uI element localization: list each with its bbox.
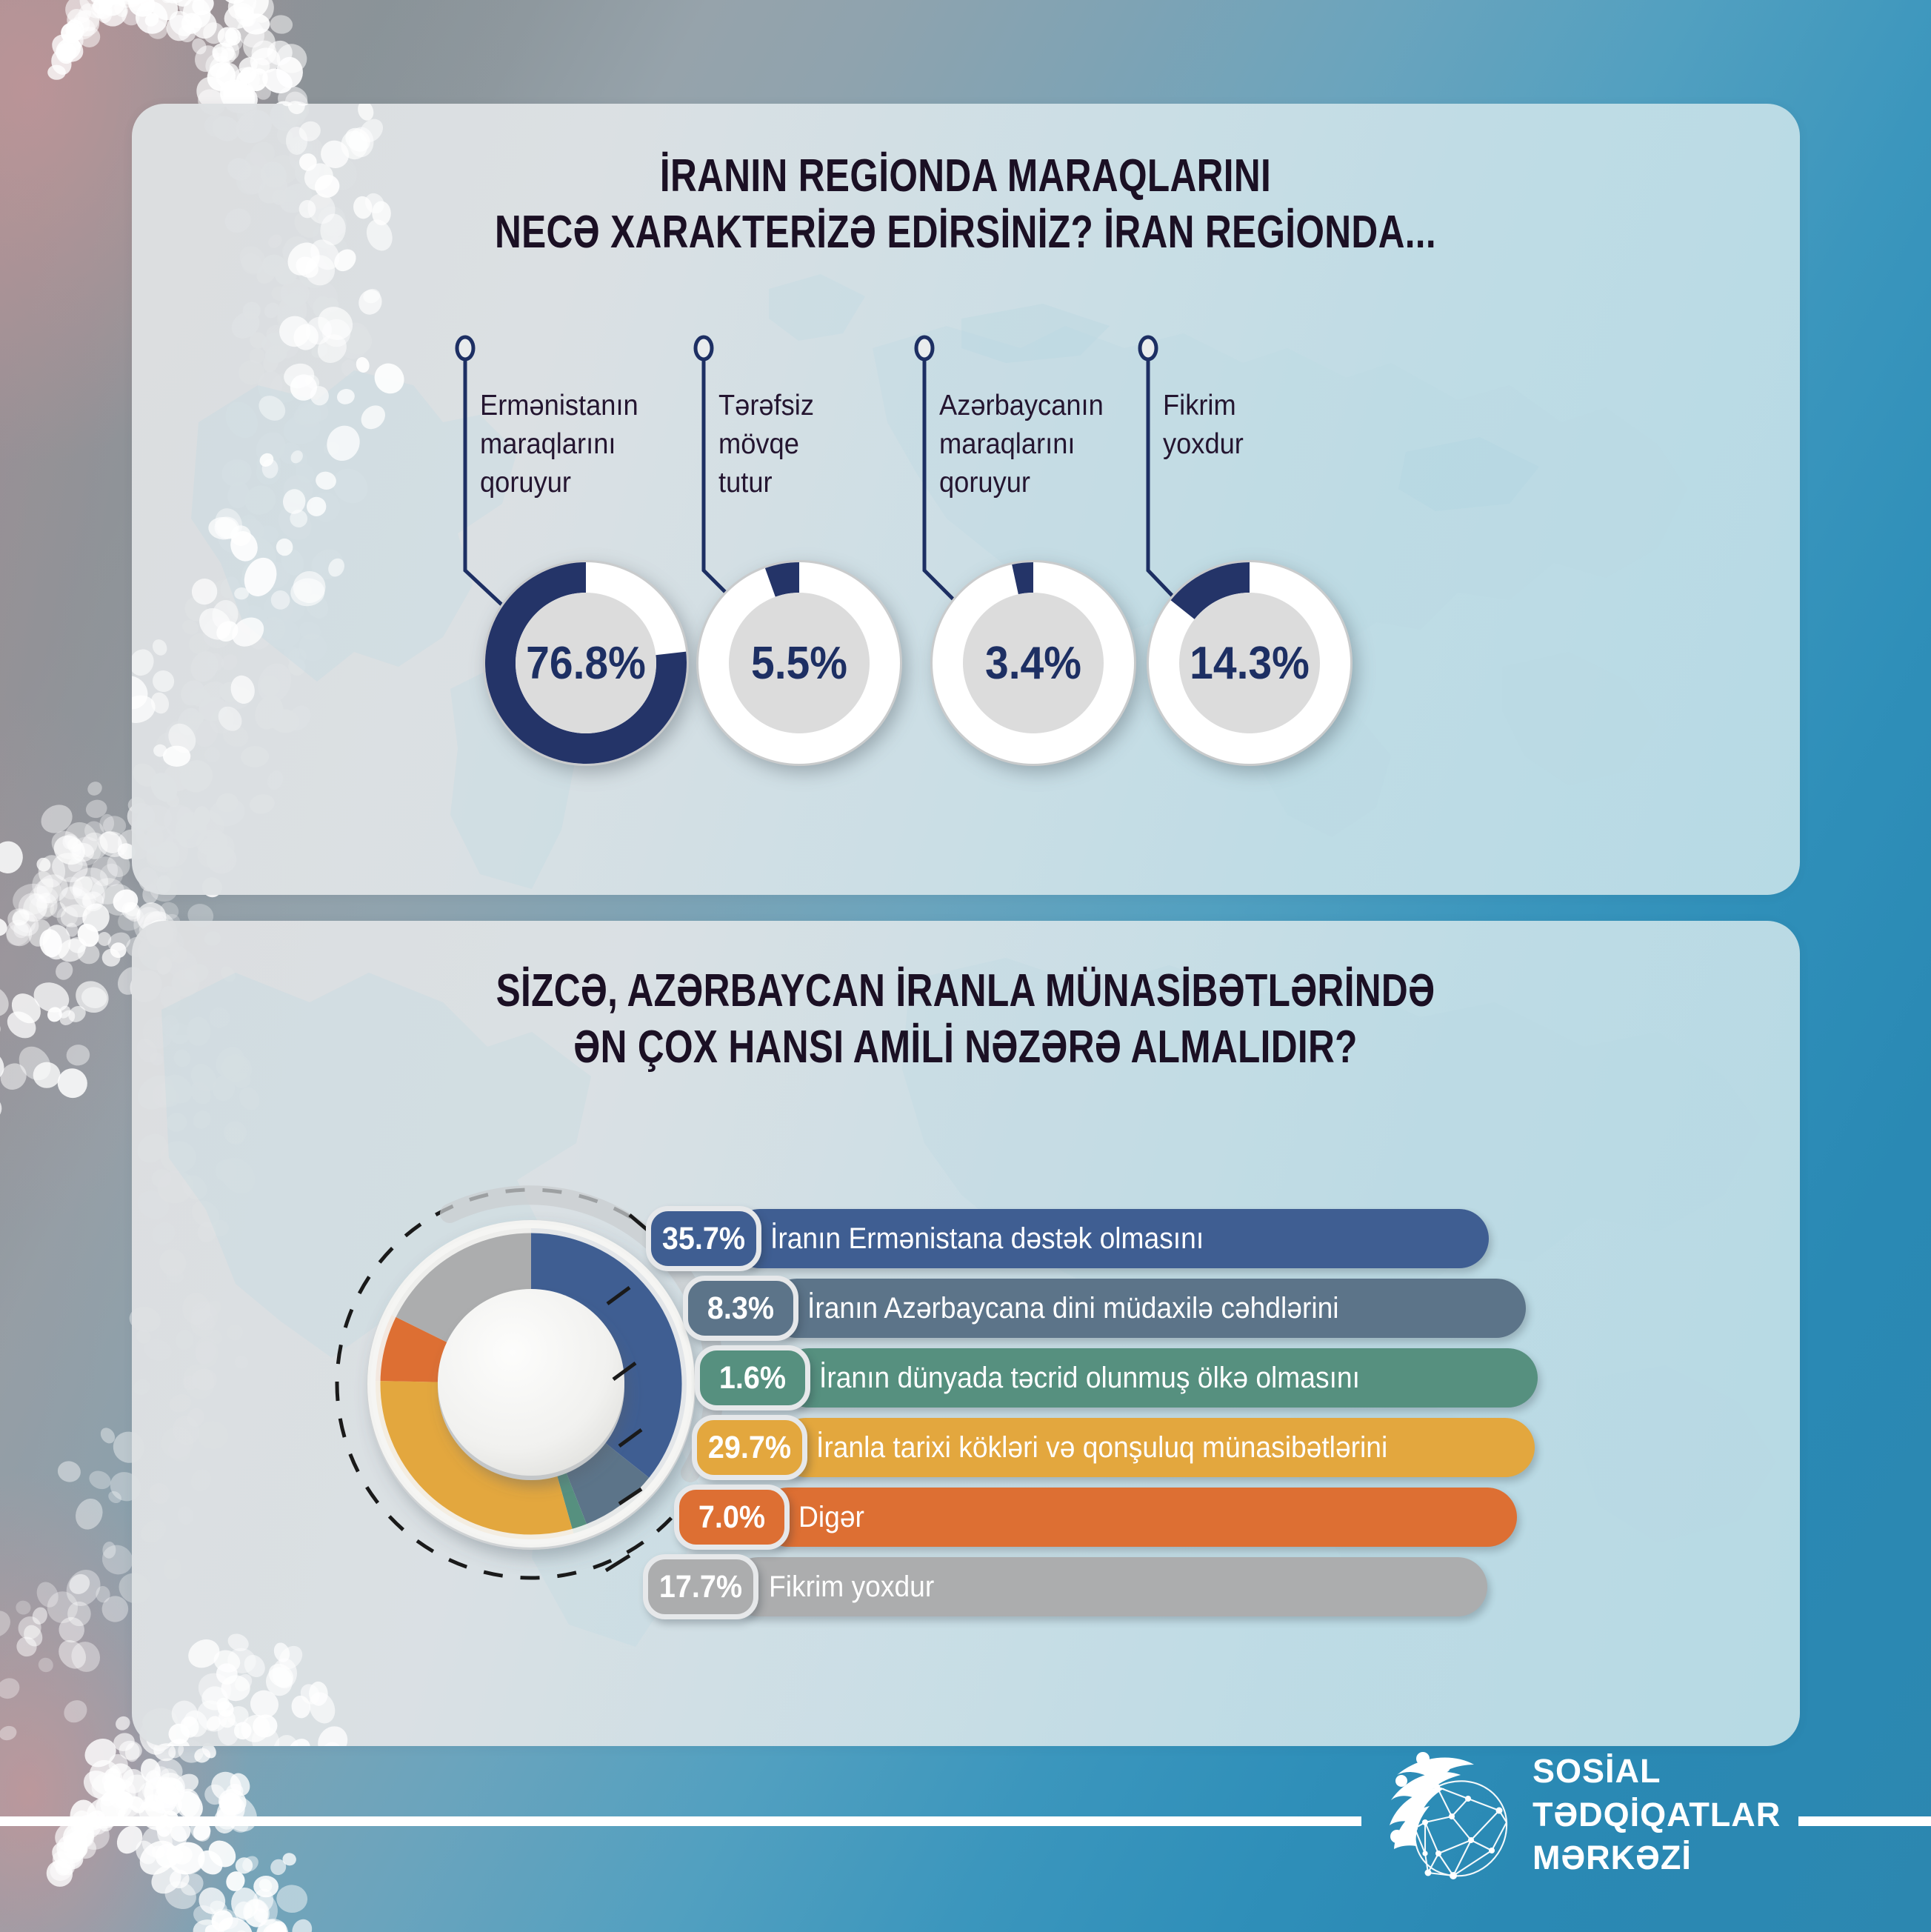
legend-bar[interactable]: Fikrim yoxdur [729, 1557, 1487, 1616]
panel1-title-line2: NECƏ XARAKTERİZƏ EDİRSİNİZ? İRAN REGİOND… [193, 204, 1738, 261]
legend-pct: 8.3% [707, 1290, 774, 1327]
legend-bar[interactable]: İranın Azərbaycana dini müdaxilə cəhdlər… [767, 1279, 1526, 1338]
donut-gauge-3: 14.3% [1144, 557, 1355, 769]
legend-label: Digər [798, 1501, 864, 1534]
donut-label-1: Tərəfsiz mövqe tutur [718, 387, 814, 502]
legend-bar[interactable]: Digər [758, 1488, 1517, 1547]
legend-row[interactable]: İranın dünyada təcrid olunmuş ölkə olmas… [646, 1345, 1594, 1410]
legend-label: İranla tarixi kökləri və qonşuluq münasi… [816, 1431, 1387, 1465]
legend-bar[interactable]: İranın dünyada təcrid olunmuş ölkə olmas… [779, 1348, 1538, 1408]
panel2-title-line1: SİZCƏ, AZƏRBAYCAN İRANLA MÜNASİBƏTLƏRİND… [496, 965, 1435, 1016]
logo-wordmark: SOSİAL TƏDQİQATLAR MƏRKƏZİ [1533, 1750, 1781, 1880]
donut-gauge-1: 5.5% [693, 557, 905, 769]
legend-bar[interactable]: İranla tarixi kökləri və qonşuluq münasi… [776, 1418, 1535, 1477]
legend-row[interactable]: Digər 7.0% [646, 1485, 1594, 1550]
brand-logo: SOSİAL TƏDQİQATLAR MƏRKƏZİ [1381, 1733, 1766, 1893]
legend-pct: 17.7% [659, 1569, 742, 1605]
legend-pill[interactable]: 17.7% [643, 1554, 758, 1619]
factor-legend: İranın Ermənistana dəstək olmasını 35.7%… [646, 1206, 1594, 1624]
legend-bar[interactable]: İranın Ermənistana dəstək olmasını [730, 1209, 1489, 1268]
legend-label: İranın Azərbaycana dini müdaxilə cəhdlər… [807, 1292, 1339, 1325]
footer-rule-left [0, 1816, 1361, 1826]
panel1-title: İRANIN REGİONDA MARAQLARINI NECƏ XARAKTE… [193, 148, 1738, 260]
panel1-title-line1: İRANIN REGİONDA MARAQLARINI [660, 150, 1271, 201]
footer-rule-right [1798, 1816, 1931, 1826]
donut-label-3: Fikrim yoxdur [1163, 387, 1244, 464]
logo-sphere-icon [1381, 1742, 1521, 1883]
donut-gauge-row: 76.8% 5.5% 3.4% 14.3% [0, 557, 1931, 802]
legend-pill[interactable]: 35.7% [646, 1206, 761, 1271]
legend-label: İranın Ermənistana dəstək olmasını [770, 1222, 1204, 1256]
legend-pill[interactable]: 7.0% [674, 1485, 790, 1550]
donut-label-2: Azərbaycanın maraqlarını qoruyur [939, 387, 1104, 502]
logo-line-2: TƏDQİQATLAR [1533, 1793, 1781, 1837]
legend-pct: 35.7% [662, 1221, 745, 1257]
legend-pct: 29.7% [708, 1430, 791, 1466]
legend-row[interactable]: Fikrim yoxdur 17.7% [646, 1554, 1594, 1619]
panel2-title: SİZCƏ, AZƏRBAYCAN İRANLA MÜNASİBƏTLƏRİND… [193, 963, 1738, 1075]
donut-label-0: Ermənistanın maraqlarını qoruyur [480, 387, 638, 502]
legend-label: İranın dünyada təcrid olunmuş ölkə olmas… [819, 1362, 1360, 1395]
legend-row[interactable]: İranın Azərbaycana dini müdaxilə cəhdlər… [646, 1276, 1594, 1341]
donut-gauge-0: 76.8% [480, 557, 692, 769]
legend-pill[interactable]: 8.3% [683, 1276, 798, 1341]
logo-line-1: SOSİAL [1533, 1750, 1781, 1793]
legend-pill[interactable]: 1.6% [695, 1345, 810, 1410]
legend-row[interactable]: İranla tarixi kökləri və qonşuluq münasi… [646, 1415, 1594, 1480]
legend-label: Fikrim yoxdur [769, 1570, 934, 1604]
legend-pct: 7.0% [698, 1499, 765, 1536]
legend-pct: 1.6% [719, 1360, 786, 1396]
legend-pill[interactable]: 29.7% [692, 1415, 807, 1480]
legend-row[interactable]: İranın Ermənistana dəstək olmasını 35.7% [646, 1206, 1594, 1271]
donut-gauge-2: 3.4% [927, 557, 1139, 769]
panel2-title-line2: ƏN ÇOX HANSI AMİLİ NƏZƏRƏ ALMALIDIR? [193, 1019, 1738, 1076]
logo-line-3: MƏRKƏZİ [1533, 1836, 1781, 1880]
